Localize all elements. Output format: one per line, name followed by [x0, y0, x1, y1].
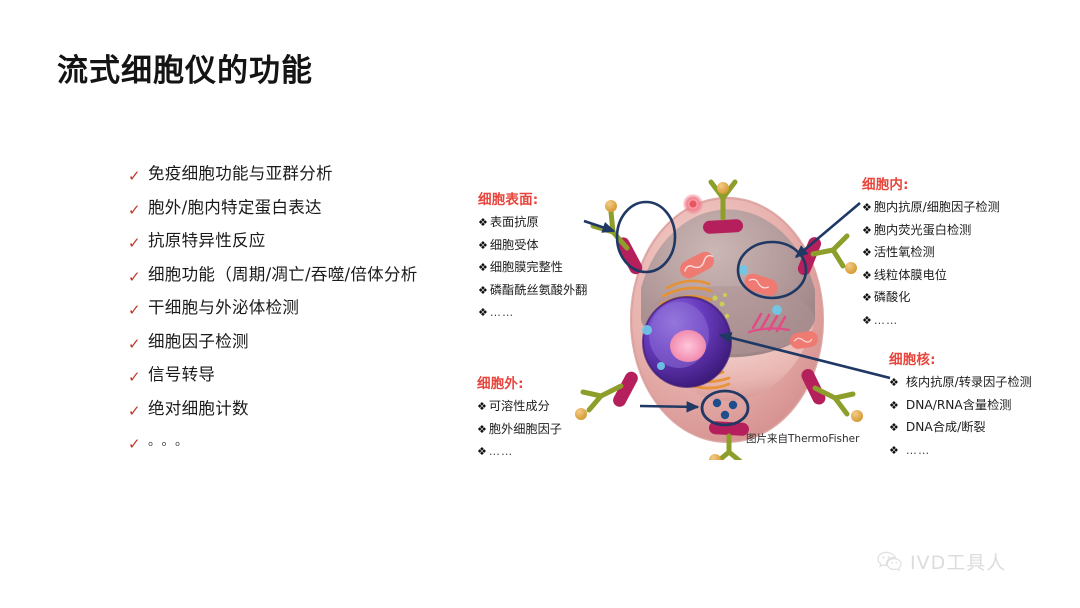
diamond-bullet-icon: ❖ — [862, 200, 872, 215]
check-icon: ✓ — [128, 363, 148, 389]
list-item-label: 细胞功能（周期/凋亡/吞噬/倍体分析 — [148, 263, 418, 287]
list-item-label: 免疫细胞功能与亚群分析 — [148, 162, 333, 186]
annotation-item-label: 胞内荧光蛋白检测 — [874, 223, 972, 238]
check-icon: ✓ — [128, 430, 148, 456]
annotation-item-label: …… — [906, 443, 930, 458]
page-title: 流式细胞仪的功能 — [57, 45, 313, 90]
diamond-bullet-icon: ❖ — [862, 245, 872, 260]
annotation-item: ❖ 核内抗原/转录因子检测 — [889, 375, 1032, 390]
feature-list: ✓ 免疫细胞功能与亚群分析 ✓ 胞外/胞内特定蛋白表达 ✓ 抗原特异性反应 ✓ … — [128, 162, 488, 464]
check-icon: ✓ — [128, 296, 148, 322]
check-icon: ✓ — [128, 263, 148, 289]
membrane-protein — [703, 219, 744, 234]
list-item-label: 。。。 — [148, 430, 195, 454]
list-item: ✓ 抗原特异性反应 — [128, 229, 488, 263]
fluorophore-dot — [851, 410, 863, 422]
annotation-heading: 细胞核: — [889, 348, 1032, 368]
annotation-item-label: 核内抗原/转录因子检测 — [906, 375, 1032, 390]
annotation-item-label: 胞外细胞因子 — [489, 422, 562, 437]
annotation-item-label: DNA/RNA含量检测 — [906, 398, 1012, 413]
annotation-heading: 细胞内: — [862, 173, 1000, 193]
fluorophore-dot — [717, 182, 729, 194]
annotation-item: ❖ 磷酸化 — [862, 290, 1000, 305]
annotation-item: ❖ …… — [477, 444, 562, 459]
annotation-item: ❖ 表面抗原 — [478, 215, 587, 230]
nucleus — [643, 297, 731, 387]
diamond-bullet-icon: ❖ — [477, 422, 487, 437]
list-item: ✓ 绝对细胞计数 — [128, 397, 488, 431]
slide-canvas: 流式细胞仪的功能 ✓ 免疫细胞功能与亚群分析 ✓ 胞外/胞内特定蛋白表达 ✓ 抗… — [0, 0, 1080, 608]
antibody — [593, 200, 627, 248]
annotation-item: ❖ 胞内荧光蛋白检测 — [862, 223, 1000, 238]
check-icon: ✓ — [128, 196, 148, 222]
list-item-label: 抗原特异性反应 — [148, 229, 266, 253]
annotation-item-label: 线粒体膜电位 — [874, 268, 947, 283]
annotation-item: ❖ 线粒体膜电位 — [862, 268, 1000, 283]
diamond-bullet-icon: ❖ — [477, 444, 487, 459]
fluorophore-dot — [575, 408, 587, 420]
check-icon: ✓ — [128, 162, 148, 188]
annotation-item: ❖ 细胞受体 — [478, 238, 587, 253]
check-icon: ✓ — [128, 397, 148, 423]
annotation-item: ❖ 细胞膜完整性 — [478, 260, 587, 275]
list-item-label: 信号转导 — [148, 363, 215, 387]
annotation-item-label: 细胞膜完整性 — [490, 260, 563, 275]
annotation-item: ❖ DNA合成/断裂 — [889, 420, 1032, 435]
nucleolus — [670, 330, 706, 362]
annotation-item: ❖ 胞外细胞因子 — [477, 422, 562, 437]
diamond-bullet-icon: ❖ — [889, 420, 899, 435]
list-item-label: 胞外/胞内特定蛋白表达 — [148, 196, 322, 220]
annotation-item-label: 胞内抗原/细胞因子检测 — [874, 200, 1000, 215]
diamond-bullet-icon: ❖ — [477, 399, 487, 414]
image-credit: 图片来自ThermoFisher — [746, 431, 859, 446]
diamond-bullet-icon: ❖ — [862, 268, 872, 283]
diamond-bullet-icon: ❖ — [478, 260, 488, 275]
fluorophore-dot — [605, 200, 617, 212]
watermark: IVD工具人 — [877, 548, 1006, 575]
annotation-item-label: …… — [489, 444, 513, 459]
list-item: ✓ 胞外/胞内特定蛋白表达 — [128, 196, 488, 230]
fluorophore-dot — [845, 262, 857, 274]
animal-cell-illustration — [575, 170, 905, 460]
cytokine-core — [689, 200, 696, 207]
list-item-label: 细胞因子检测 — [148, 330, 249, 354]
annotation-extracellular: 细胞外: ❖ 可溶性成分 ❖ 胞外细胞因子 ❖ …… — [477, 372, 562, 467]
list-item: ✓ 干细胞与外泌体检测 — [128, 296, 488, 330]
annotation-item: ❖ …… — [889, 443, 1032, 458]
annotation-nucleus: 细胞核: ❖ 核内抗原/转录因子检测 ❖ DNA/RNA含量检测 ❖ DNA合成… — [889, 348, 1032, 465]
annotation-item-label: 表面抗原 — [490, 215, 539, 230]
list-item: ✓ 细胞功能（周期/凋亡/吞噬/倍体分析 — [128, 263, 488, 297]
annotation-item: ❖ 可溶性成分 — [477, 399, 562, 414]
annotation-intracellular: 细胞内: ❖ 胞内抗原/细胞因子检测 ❖ 胞内荧光蛋白检测 ❖ 活性氧检测 ❖ … — [862, 173, 1000, 335]
annotation-item-label: 活性氧检测 — [874, 245, 935, 260]
diamond-bullet-icon: ❖ — [862, 290, 872, 305]
antibody — [815, 388, 863, 422]
diamond-bullet-icon: ❖ — [889, 443, 899, 458]
diamond-bullet-icon: ❖ — [478, 305, 488, 320]
list-item-label: 绝对细胞计数 — [148, 397, 249, 421]
annotation-item-label: 磷酸化 — [874, 290, 911, 305]
annotation-item: ❖ …… — [478, 305, 587, 320]
annotation-item-label: …… — [490, 305, 514, 320]
annotation-item-label: 可溶性成分 — [489, 399, 550, 414]
annotation-item-label: DNA合成/断裂 — [906, 420, 986, 435]
watermark-label: IVD工具人 — [910, 548, 1006, 575]
wechat-icon — [877, 551, 903, 573]
diamond-bullet-icon: ❖ — [889, 375, 899, 390]
list-item: ✓ 。。。 — [128, 430, 488, 464]
annotation-item: ❖ 活性氧检测 — [862, 245, 1000, 260]
check-icon: ✓ — [128, 229, 148, 255]
annotation-heading: 细胞表面: — [478, 188, 587, 208]
list-item: ✓ 免疫细胞功能与亚群分析 — [128, 162, 488, 196]
list-item: ✓ 信号转导 — [128, 363, 488, 397]
annotation-item-label: 磷酯酰丝氨酸外翻 — [490, 283, 588, 298]
annotation-heading: 细胞外: — [477, 372, 562, 392]
annotation-item: ❖ …… — [862, 313, 1000, 328]
diamond-bullet-icon: ❖ — [889, 398, 899, 413]
diamond-bullet-icon: ❖ — [478, 283, 488, 298]
annotation-item-label: 细胞受体 — [490, 238, 539, 253]
annotation-cell-surface: 细胞表面: ❖ 表面抗原 ❖ 细胞受体 ❖ 细胞膜完整性 ❖ 磷酯酰丝氨酸外翻 … — [478, 188, 587, 328]
annotation-item: ❖ 磷酯酰丝氨酸外翻 — [478, 283, 587, 298]
list-item: ✓ 细胞因子检测 — [128, 330, 488, 364]
diamond-bullet-icon: ❖ — [862, 223, 872, 238]
fluorophore-dot — [709, 454, 721, 460]
annotation-item-label: …… — [874, 313, 898, 328]
check-icon: ✓ — [128, 330, 148, 356]
diamond-bullet-icon: ❖ — [478, 215, 488, 230]
diamond-bullet-icon: ❖ — [478, 238, 488, 253]
diamond-bullet-icon: ❖ — [862, 313, 872, 328]
annotation-item: ❖ DNA/RNA含量检测 — [889, 398, 1032, 413]
annotation-item: ❖ 胞内抗原/细胞因子检测 — [862, 200, 1000, 215]
list-item-label: 干细胞与外泌体检测 — [148, 296, 299, 320]
